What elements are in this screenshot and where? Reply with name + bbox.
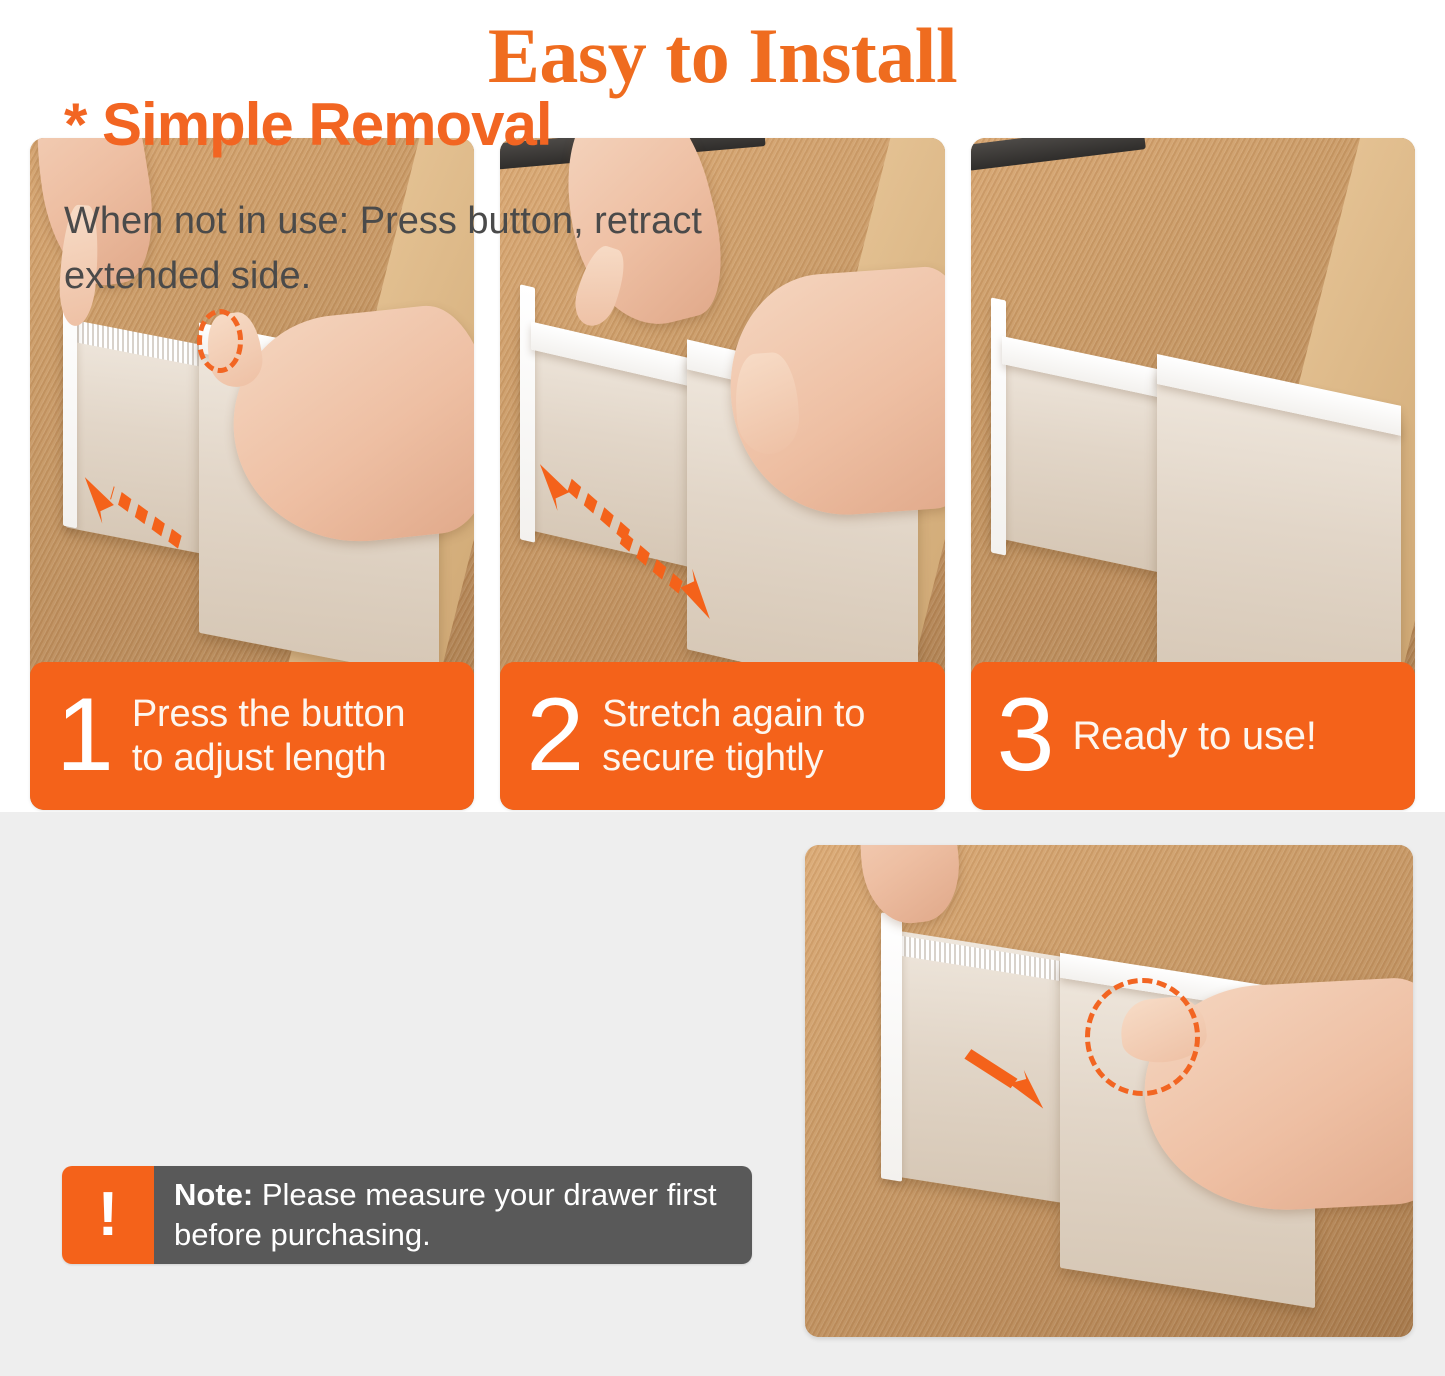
step-card-3: 3 Ready to use! xyxy=(971,138,1415,810)
step-1-text-line2: to adjust length xyxy=(132,736,406,780)
step-3-text-line1: Ready to use! xyxy=(1073,713,1317,759)
step-2-text: Stretch again to secure tightly xyxy=(602,692,865,780)
arrow-solid-right xyxy=(963,1047,1048,1111)
note-text: Note: Please measure your drawer first b… xyxy=(154,1166,752,1264)
step-2-number: 2 xyxy=(526,690,584,782)
note-message: Please measure your drawer first before … xyxy=(174,1177,717,1252)
divider-white-left-cap xyxy=(881,912,902,1181)
step-2-caption: 2 Stretch again to secure tightly xyxy=(500,662,944,810)
exclamation-icon: ! xyxy=(62,1166,154,1264)
removal-title: * Simple Removal xyxy=(64,92,764,158)
step-1-text: Press the button to adjust length xyxy=(132,692,406,780)
removal-photo xyxy=(805,845,1413,1337)
note-box: ! Note: Please measure your drawer first… xyxy=(62,1166,752,1264)
button-highlight-circle xyxy=(197,309,244,373)
step-2-text-line2: secure tightly xyxy=(602,736,865,780)
step-1-caption: 1 Press the button to adjust length xyxy=(30,662,474,810)
removal-text-block: * Simple Removal When not in use: Press … xyxy=(64,92,764,304)
step-3-caption: 3 Ready to use! xyxy=(971,662,1415,810)
note-label: Note: xyxy=(174,1177,253,1212)
step-3-number: 3 xyxy=(997,690,1055,782)
page-title: Easy to Install xyxy=(488,17,957,95)
step-2-text-line1: Stretch again to xyxy=(602,692,865,736)
step-1-text-line1: Press the button xyxy=(132,692,406,736)
button-highlight-circle xyxy=(1085,978,1201,1096)
removal-body-text: When not in use: Press button, retract e… xyxy=(64,194,764,304)
step-3-text: Ready to use! xyxy=(1073,713,1317,759)
arrow-dashed-left xyxy=(79,474,186,555)
arrow-dashed-downright xyxy=(616,528,714,622)
step-1-number: 1 xyxy=(56,690,114,782)
